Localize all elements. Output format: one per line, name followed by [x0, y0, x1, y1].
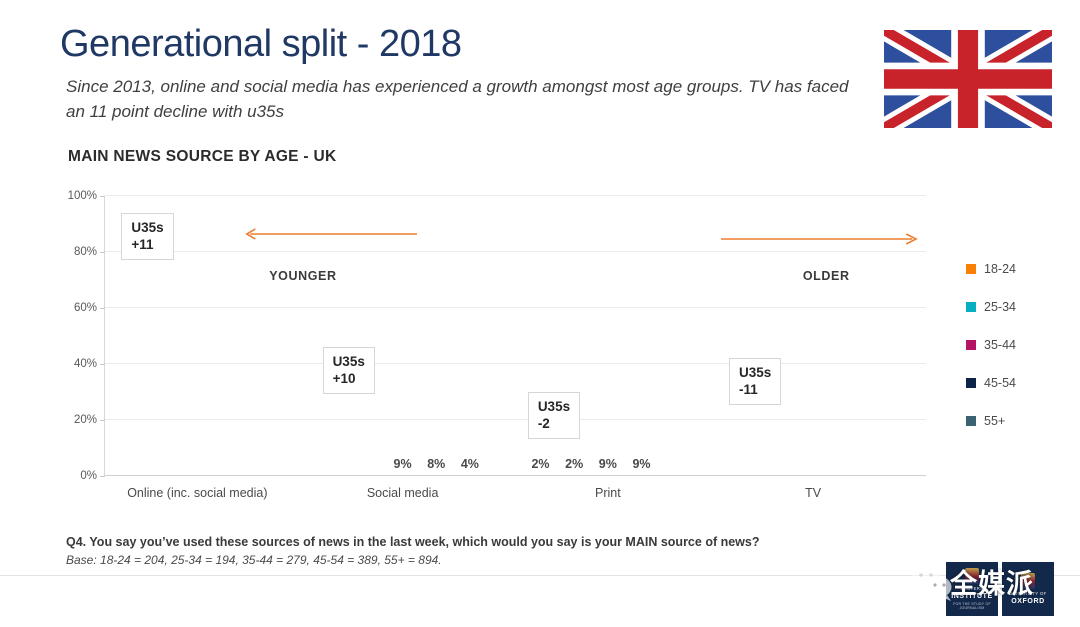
callout-title: U35s	[131, 219, 163, 236]
legend-swatch	[966, 340, 976, 350]
page-title: Generational split - 2018	[60, 22, 462, 66]
callout-value: +11	[131, 236, 163, 253]
legend-item[interactable]: 25-34	[966, 300, 1016, 314]
bar-value-label: 2%	[524, 457, 558, 471]
oxford-crest-icon	[1021, 573, 1035, 589]
bar-value-label: 9%	[386, 457, 420, 471]
footnote: Q4. You say you’ve used these sources of…	[66, 533, 826, 569]
legend-label: 45-54	[984, 376, 1016, 390]
reuters-logo-line2: INSTITUTE	[951, 593, 993, 600]
legend-label: 25-34	[984, 300, 1016, 314]
arrow-right-icon	[721, 232, 918, 246]
logos: REUTERS INSTITUTE FOR THE STUDY OF JOURN…	[946, 562, 1056, 616]
y-axis-tick: 60%	[55, 302, 97, 314]
older-label: OLDER	[803, 269, 850, 283]
legend-swatch	[966, 416, 976, 426]
slide: Generational split - 2018 Since 2013, on…	[0, 0, 1080, 627]
callout-value: -11	[739, 381, 771, 398]
bar-value-label: 9%	[591, 457, 625, 471]
bar-value-label: 8%	[419, 457, 453, 471]
oxford-logo: UNIVERSITY OF OXFORD	[1002, 562, 1054, 616]
plot-area: 0%20%40%60%80%100%77%73%55%40%22%Online …	[104, 196, 926, 476]
reuters-institute-logo: REUTERS INSTITUTE FOR THE STUDY OF JOURN…	[946, 562, 998, 616]
x-axis-label: TV	[721, 486, 926, 500]
legend-swatch	[966, 378, 976, 388]
y-axis-tick: 100%	[55, 190, 97, 202]
oxford-logo-line1: UNIVERSITY OF	[1009, 591, 1046, 596]
legend-item[interactable]: 18-24	[966, 262, 1016, 276]
callout-title: U35s	[538, 398, 570, 415]
legend-swatch	[966, 264, 976, 274]
younger-label: YOUNGER	[269, 269, 336, 283]
y-axis-tick-mark	[100, 476, 105, 477]
u35s-callout: U35s+11	[121, 213, 173, 260]
x-axis-label: Print	[516, 486, 721, 500]
reuters-logo-line1: REUTERS	[961, 586, 984, 591]
callout-value: -2	[538, 415, 570, 432]
y-axis-tick: 80%	[55, 246, 97, 258]
bar-value-label: 9%	[625, 457, 659, 471]
x-axis-label: Online (inc. social media)	[105, 486, 310, 500]
u35s-callout: U35s+10	[323, 347, 375, 394]
footer-divider	[0, 575, 1080, 576]
callout-title: U35s	[333, 353, 365, 370]
legend-swatch	[966, 302, 976, 312]
y-axis-tick: 0%	[55, 470, 97, 482]
legend-label: 55+	[984, 414, 1005, 428]
bar-value-label: 2%	[557, 457, 591, 471]
crest-icon	[965, 568, 979, 584]
callout-title: U35s	[739, 364, 771, 381]
chart-section-title: MAIN NEWS SOURCE BY AGE - UK	[68, 148, 336, 166]
chart-legend: 18-2425-3435-4445-5455+	[966, 262, 1016, 452]
uk-flag-icon	[884, 30, 1052, 128]
u35s-callout: U35s-11	[729, 358, 781, 405]
callout-value: +10	[333, 370, 365, 387]
footnote-base: Base: 18-24 = 204, 25-34 = 194, 35-44 = …	[66, 551, 826, 569]
oxford-logo-line2: OXFORD	[1011, 598, 1045, 605]
arrow-left-icon	[245, 227, 417, 241]
legend-label: 18-24	[984, 262, 1016, 276]
footnote-question: Q4. You say you’ve used these sources of…	[66, 533, 826, 551]
bar-value-label: 4%	[453, 457, 487, 471]
legend-item[interactable]: 55+	[966, 414, 1016, 428]
x-axis-label: Social media	[310, 486, 515, 500]
legend-label: 35-44	[984, 338, 1016, 352]
y-axis-tick: 40%	[55, 358, 97, 370]
reuters-logo-line3: FOR THE STUDY OF JOURNALISM	[946, 602, 998, 610]
legend-item[interactable]: 45-54	[966, 376, 1016, 390]
legend-item[interactable]: 35-44	[966, 338, 1016, 352]
page-subtitle: Since 2013, online and social media has …	[66, 74, 856, 124]
u35s-callout: U35s-2	[528, 392, 580, 439]
bar-chart: 0%20%40%60%80%100%77%73%55%40%22%Online …	[56, 190, 944, 502]
y-axis-tick: 20%	[55, 414, 97, 426]
